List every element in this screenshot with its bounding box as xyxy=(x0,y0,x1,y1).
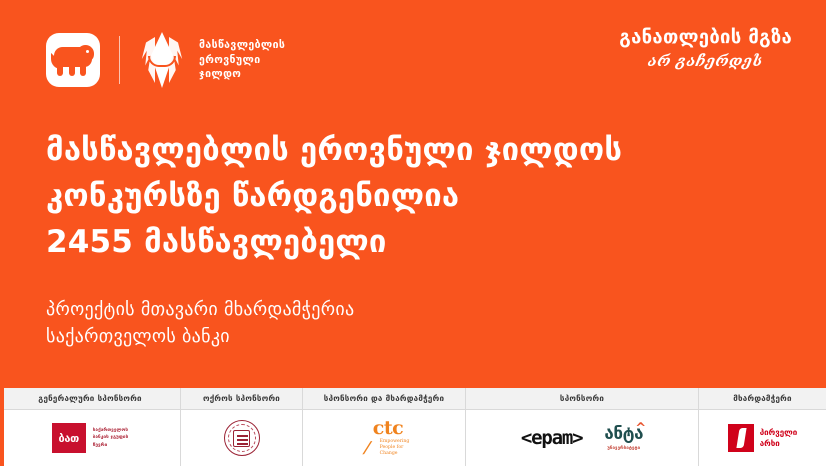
sponsor-footer: გენერალური სპონსორი ბათ საქართველოს ბანკ… xyxy=(0,388,826,466)
first-channel-wordmark: პირველი არხი xyxy=(760,427,798,449)
sponsor-column-header: სპონსორი და მხარდამჭერი xyxy=(303,388,465,410)
campaign-subtitle: არ გაჩერდეს xyxy=(618,52,793,70)
sponsor-column-header: სპონსორი xyxy=(466,388,698,410)
lion-eye-shape xyxy=(86,50,89,53)
headline-line-1: მასწავლებლის ეროვნული ჯილდოს xyxy=(46,128,622,174)
page-title: მასწავლებლის ეროვნული ჯილდოს კონკურსზე წ… xyxy=(46,128,622,266)
brand-title-line-2: ეროვნული xyxy=(199,53,285,68)
university-seal-logo xyxy=(224,420,260,456)
sponsor-column-gold: ოქროს სპონსორი xyxy=(181,388,303,466)
ctc-wordmark: ctc xyxy=(367,419,410,438)
brand-title-line-3: ჯილდო xyxy=(199,67,285,82)
subhead-line-2: საქართველოს ბანკი xyxy=(46,323,354,350)
top-bar: მასწავლებლის ეროვნული ჯილდო განათლების მ… xyxy=(0,0,826,108)
subhead-line-1: პროექტის მთავარი მხარდამჭერია xyxy=(46,296,354,323)
ctc-swoosh-icon: ⟋ xyxy=(360,440,375,457)
sponsor-column-sponsor-supporter: სპონსორი და მხარდამჭერი ctc ⟋ Empowering… xyxy=(303,388,466,466)
footer-accent-bar xyxy=(0,388,4,466)
award-diamond-icon xyxy=(139,32,185,88)
campaign-title: განათლების მგზა xyxy=(619,28,792,48)
sponsor-column-header: გენერალური სპონსორი xyxy=(0,388,180,410)
epam-logo: <epam> xyxy=(521,427,582,449)
headline-line-2: კონკურსზე წარდგენილია xyxy=(46,174,622,220)
sponsor-column-body: პირველი არხი xyxy=(699,410,826,466)
sponsor-column-body: ctc ⟋ Empowering People for Change xyxy=(303,410,465,466)
ctc-logo: ctc ⟋ Empowering People for Change xyxy=(359,419,410,458)
ctc-tag-line-3: Change xyxy=(380,451,410,457)
sponsor-column-supporter: მხარდამჭერი პირველი არხი xyxy=(699,388,826,466)
ctc-tag-line-1: Empowering xyxy=(380,439,410,445)
ministry-lion-emblem-icon xyxy=(46,33,100,87)
brand-title: მასწავლებლის ეროვნული ჯილდო xyxy=(199,38,285,83)
sponsor-column-header: მხარდამჭერი xyxy=(699,388,826,410)
bog-line-3: წევრი xyxy=(93,442,129,450)
ch1-line-2: არხი xyxy=(760,438,798,449)
sponsor-column-header: ოქროს სპონსორი xyxy=(181,388,302,410)
first-channel-mark-icon xyxy=(728,424,754,452)
headline-line-3: 2455 მასწავლებელი xyxy=(46,220,622,266)
subtitle-text: პროექტის მთავარი მხარდამჭერია საქართველო… xyxy=(46,296,354,351)
brand-divider xyxy=(119,36,120,84)
bog-line-2: ბანკის ჯგუფის xyxy=(93,434,129,442)
sponsor-column-body: <epam> ანტა ^ უნივერსიტეტი xyxy=(466,410,698,466)
sponsor-column-sponsor: სპონსორი <epam> ანტა ^ უნივერსიტეტი xyxy=(466,388,699,466)
brand-title-line-1: მასწავლებლის xyxy=(199,38,285,53)
sponsor-column-body xyxy=(181,410,302,466)
anta-logo: ანტა ^ უნივერსიტეტი xyxy=(604,426,643,450)
university-seal-inner-shape xyxy=(233,430,250,447)
anta-tagline: უნივერსიტეტი xyxy=(604,445,643,450)
bank-of-georgia-logo: ბათ საქართველოს ბანკის ჯგუფის წევრი xyxy=(52,423,129,453)
lion-leg-mid-shape xyxy=(69,63,75,76)
promo-banner: მასწავლებლის ეროვნული ჯილდო განათლების მ… xyxy=(0,0,826,466)
ctc-tagline: Empowering People for Change xyxy=(380,439,410,458)
bog-line-1: საქართველოს xyxy=(93,427,129,435)
lion-leg-back-shape xyxy=(80,62,86,76)
ch1-line-1: პირველი xyxy=(760,427,798,438)
campaign-mark: განათლების მგზა არ გაჩერდეს xyxy=(619,28,792,70)
lion-head-shape xyxy=(77,45,94,62)
sponsor-column-general: გენერალური სპონსორი ბათ საქართველოს ბანკ… xyxy=(0,388,181,466)
first-channel-logo: პირველი არხი xyxy=(728,424,798,452)
lion-tail-shape xyxy=(51,53,61,69)
bank-of-georgia-mark: ბათ xyxy=(52,423,86,453)
anta-caret-icon: ^ xyxy=(635,422,646,435)
bank-of-georgia-wordmark: საქართველოს ბანკის ჯგუფის წევრი xyxy=(93,427,129,450)
sponsor-column-body: ბათ საქართველოს ბანკის ჯგუფის წევრი xyxy=(0,410,180,466)
brand-lockup: მასწავლებლის ეროვნული ჯილდო xyxy=(46,32,285,88)
